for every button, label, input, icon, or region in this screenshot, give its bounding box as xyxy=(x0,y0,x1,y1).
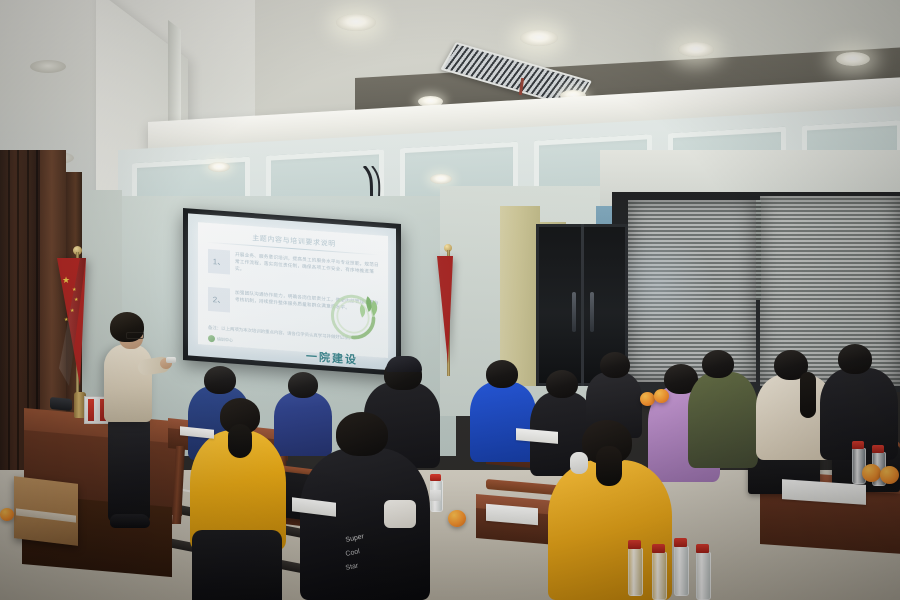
water-bottle[interactable] xyxy=(674,546,689,596)
water-bottle[interactable] xyxy=(652,552,667,600)
hoodie-print-text: Super Cool Star xyxy=(342,530,412,590)
slide-bullet-text: 开展业务、服务意识培训，提高员工的服务水平与专业技能，规范日常工作流程，落实岗位… xyxy=(235,251,380,286)
bottle-cap-icon xyxy=(674,538,687,547)
chinese-national-flag-right xyxy=(437,256,453,364)
attendee-head xyxy=(288,372,318,398)
desk-telephone[interactable] xyxy=(50,397,72,411)
slide-bullet-1: 1、 开展业务、服务意识培训，提高员工的服务水平与专业技能，规范日常工作流程，落… xyxy=(208,249,380,286)
presenter-torso xyxy=(104,344,152,422)
svg-text:Super: Super xyxy=(345,533,365,544)
face-mask-icon xyxy=(570,452,588,474)
attendee-head xyxy=(600,352,630,378)
baseball-cap-icon xyxy=(386,356,422,372)
window-light-glow xyxy=(620,230,715,340)
attendee-head xyxy=(336,412,388,456)
slide-content: 主题内容与培训要求说明 1、 开展业务、服务意识培训，提高员工的服务水平与专业技… xyxy=(198,222,388,358)
ponytail-hair xyxy=(800,372,816,418)
water-bottle[interactable] xyxy=(696,552,711,600)
attendee-blue-coat xyxy=(470,382,536,462)
ponytail-hair xyxy=(596,446,622,486)
slide-bullet-number: 2、 xyxy=(208,287,230,313)
ceiling-downlight xyxy=(208,162,230,172)
attendee-head xyxy=(702,350,734,378)
eyeglasses-icon xyxy=(126,332,144,339)
flag-star-icon: ★ xyxy=(72,288,76,293)
bottle-cap-icon xyxy=(696,544,709,553)
orange-fruit[interactable] xyxy=(640,392,655,406)
attendee-olive-coat xyxy=(688,372,758,468)
bottle-cap-icon xyxy=(430,474,441,481)
orange-fruit[interactable] xyxy=(862,464,881,482)
door-handle-icon[interactable] xyxy=(572,292,576,332)
attendee-head xyxy=(486,360,518,388)
attendee-lower-body xyxy=(192,530,282,600)
slide-logo-text: 培训中心 xyxy=(217,336,233,343)
water-bottle[interactable] xyxy=(628,548,643,596)
flag-star-icon: ★ xyxy=(70,309,74,314)
svg-text:Star: Star xyxy=(345,562,360,572)
ceiling-downlight xyxy=(836,52,870,66)
bottle-label xyxy=(430,490,441,501)
door-seam xyxy=(581,224,584,386)
attendee-head xyxy=(838,344,872,374)
attendee-navy-back xyxy=(274,392,332,456)
conference-room-photo: 主题内容与培训要求说明 1、 开展业务、服务意识培训，提高员工的服务水平与专业技… xyxy=(0,0,900,600)
presenter-legs xyxy=(108,416,150,522)
presenter-shoes xyxy=(110,514,150,528)
orange-fruit[interactable] xyxy=(448,510,466,527)
attendee-head xyxy=(204,366,236,394)
orange-fruit[interactable] xyxy=(654,389,669,403)
door-handle-icon[interactable] xyxy=(590,292,594,332)
bottle-cap-icon xyxy=(628,540,641,549)
white-sleeve xyxy=(384,500,416,528)
ponytail-hair xyxy=(228,424,252,458)
flag-star-icon: ★ xyxy=(64,318,68,323)
bottle-cap-icon xyxy=(852,441,864,449)
flag-star-icon: ★ xyxy=(62,276,70,285)
ceiling-downlight xyxy=(30,60,66,73)
bottle-cap-icon xyxy=(652,544,665,553)
ceiling-downlight xyxy=(678,42,714,57)
slide-logo: 培训中心 xyxy=(208,335,233,344)
slide-bullet-number: 1、 xyxy=(208,249,230,275)
blinds-cord[interactable] xyxy=(756,200,761,300)
projection-screen[interactable]: 主题内容与培训要求说明 1、 开展业务、服务意识培训，提高员工的服务水平与专业技… xyxy=(183,208,401,376)
attendee-head xyxy=(546,370,578,398)
orange-fruit[interactable] xyxy=(880,466,899,484)
ceiling-downlight xyxy=(520,30,558,46)
presentation-clicker[interactable] xyxy=(166,357,176,363)
orange-fruit[interactable] xyxy=(0,508,14,521)
svg-text:Cool: Cool xyxy=(345,548,361,558)
ceiling-downlight xyxy=(336,14,376,31)
ceiling-downlight xyxy=(430,174,452,184)
wall-accent-column xyxy=(500,206,540,386)
leaf-logo-icon xyxy=(208,335,215,343)
bottle-cap-icon xyxy=(872,445,884,453)
green-leaf-circle-watermark xyxy=(322,283,384,346)
screen-surface: 主题内容与培训要求说明 1、 开展业务、服务意识培训，提高员工的服务水平与专业技… xyxy=(188,213,396,370)
flag-star-icon: ★ xyxy=(74,298,78,303)
